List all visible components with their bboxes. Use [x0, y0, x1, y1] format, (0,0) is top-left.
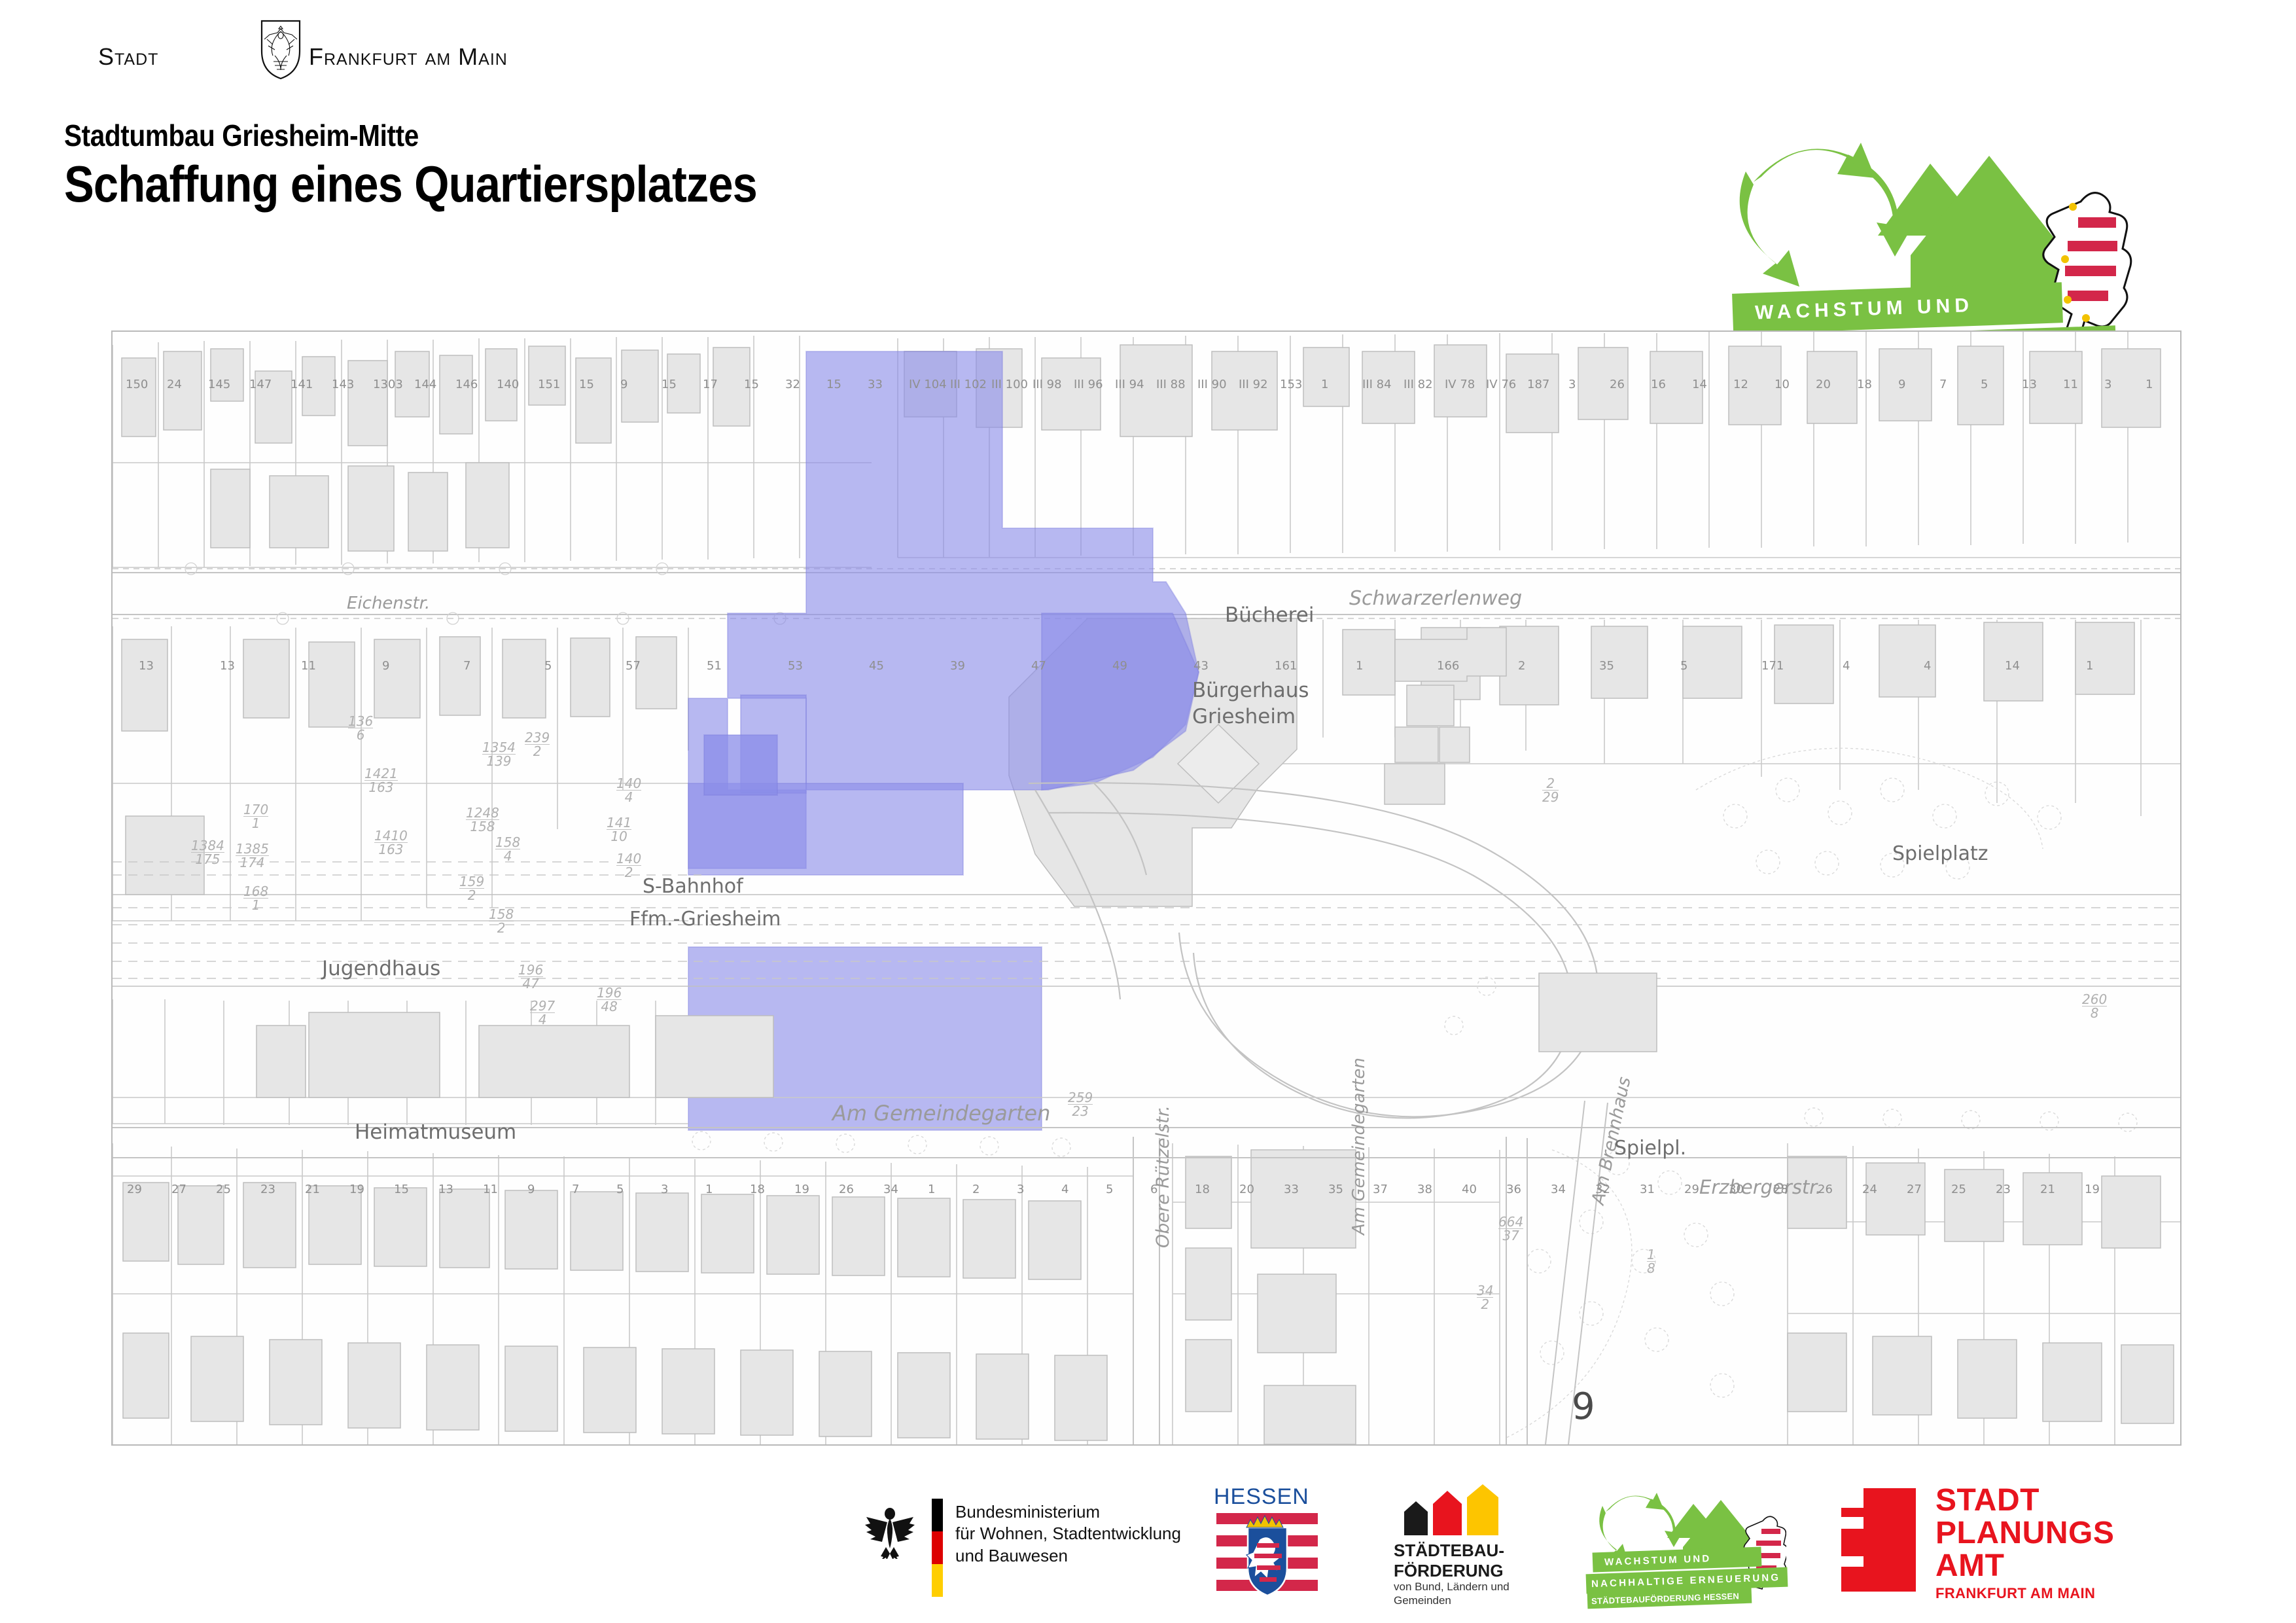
map-parcel-fraction: 1354139: [482, 741, 516, 768]
map-parcel-fraction: 1592: [459, 875, 484, 902]
map-house-number: 34: [883, 1183, 898, 1196]
map-house-number: 1: [1321, 378, 1328, 391]
map-street-label: Am Gemeindegarten: [1349, 1058, 1369, 1235]
map-house-number: 18: [750, 1183, 765, 1196]
map-house-number: 5: [544, 659, 552, 673]
map-house-number: III 92: [1239, 378, 1268, 391]
map-house-number: 187: [1527, 378, 1549, 391]
map-parcel-fraction: 1410163: [374, 829, 408, 857]
map-house-number: 166: [1437, 659, 1459, 673]
map-house-number: 7: [1939, 378, 1947, 391]
map-house-number: III 94: [1115, 378, 1144, 391]
map-house-number: 26: [1610, 378, 1625, 391]
map-house-number: 17: [703, 378, 718, 391]
map-parcel-fraction: 2392: [525, 731, 550, 758]
map-house-number: 15: [579, 378, 594, 391]
map-house-number: 150: [126, 378, 148, 391]
bmwsb-line-2: für Wohnen, Stadtentwicklung: [955, 1523, 1181, 1544]
three-houses-icon: [1402, 1484, 1500, 1535]
spa-line-1: STADT: [1935, 1484, 2114, 1517]
federal-eagle-icon: [864, 1503, 916, 1559]
city-logo-word-frankfurt: Frankfurt am Main: [309, 43, 508, 71]
map-place-label: Spielpl.: [1614, 1137, 1686, 1160]
map-house-number: 14: [2005, 659, 2020, 673]
map-house-number: 2: [972, 1183, 980, 1196]
map-house-number: 11: [301, 659, 316, 673]
map-house-number: 15: [394, 1183, 409, 1196]
map-house-number: 20: [1239, 1183, 1254, 1196]
map-house-number: IV 78: [1445, 378, 1475, 391]
map-house-number: 7: [572, 1183, 579, 1196]
map-house-number: 1: [705, 1183, 713, 1196]
map-house-number: 1: [2086, 659, 2093, 673]
map-house-number: IV 104: [909, 378, 947, 391]
map-house-number: 32: [1595, 1183, 1610, 1196]
map-parcel-fraction: 1385174: [236, 842, 269, 870]
map-parcel-fraction: 2974: [530, 999, 555, 1027]
staedtebau-title: STÄDTEBAU- FÖRDERUNG: [1394, 1541, 1504, 1580]
map-parcel-fraction: 1582: [489, 908, 514, 935]
map-house-number: 36: [1506, 1183, 1521, 1196]
map-house-number: 21: [2040, 1183, 2055, 1196]
map-house-number: 2: [1518, 659, 1525, 673]
map-house-number: 4: [1061, 1183, 1069, 1196]
map-house-number: 9: [620, 378, 627, 391]
map-house-number: 27: [1907, 1183, 1922, 1196]
map-house-number: 144: [414, 378, 436, 391]
map-parcel-fraction: 18: [1647, 1248, 1655, 1275]
map-parcel-fraction: 1366: [348, 715, 373, 742]
map-house-number: 10: [1775, 378, 1790, 391]
map-house-number: 47: [1031, 659, 1046, 673]
map-parcel-fraction: 342: [1477, 1284, 1493, 1311]
wachstum-logo-footer: WACHSTUM UND NACHHALTIGE ERNEUERUNG STÄD…: [1590, 1487, 1786, 1605]
map-house-number: 145: [208, 378, 230, 391]
map-house-number: 13: [438, 1183, 453, 1196]
map-house-number: 16: [1651, 378, 1666, 391]
map-house-number: 18: [1857, 378, 1872, 391]
map-house-number: 15: [826, 378, 841, 391]
map-parcel-fraction: 1402: [616, 852, 641, 880]
map-parcel-fraction: 25923: [1068, 1091, 1093, 1118]
map-house-number: 5: [1106, 1183, 1113, 1196]
map-house-number: 53: [788, 659, 803, 673]
map-house-number: 30: [1729, 1183, 1744, 1196]
staedtebau-line-1: STÄDTEBAU-: [1394, 1541, 1504, 1561]
map-house-number: 34: [1551, 1183, 1566, 1196]
map-house-number: 33: [1284, 1183, 1299, 1196]
map-house-number: 18: [1195, 1183, 1210, 1196]
map-house-number: 35: [1599, 659, 1614, 673]
map-house-number: 57: [626, 659, 641, 673]
staedtebau-sub: von Bund, Ländern und Gemeinden: [1394, 1580, 1510, 1608]
map-house-number: 49: [1112, 659, 1127, 673]
map-house-number: 1303: [373, 378, 403, 391]
map-house-number: III 90: [1197, 378, 1227, 391]
map-house-number: 23: [1996, 1183, 2011, 1196]
map-place-label: Spielplatz: [1892, 842, 1988, 865]
map-street-label: Am Gemeindegarten: [832, 1101, 1050, 1126]
map-street-label: Eichenstr.: [347, 594, 430, 613]
map-parcel-fraction: 1701: [243, 803, 268, 830]
map-house-number: 11: [483, 1183, 498, 1196]
map-parcel-fraction: 19647: [518, 963, 543, 991]
map-house-number: 13: [139, 659, 154, 673]
map-house-number: 5: [1981, 378, 1988, 391]
map-house-number: 38: [1417, 1183, 1432, 1196]
map-house-number: 24: [167, 378, 182, 391]
map-place-label: Griesheim: [1192, 705, 1296, 728]
map-house-number: 26: [1818, 1183, 1833, 1196]
map-house-number: 143: [332, 378, 354, 391]
frankfurt-eagle-crest-icon: [260, 20, 301, 80]
map-parcel-fraction: 1248158: [466, 806, 499, 834]
map-house-number: 15: [744, 378, 759, 391]
bmwsb-line-3: und Bauwesen: [955, 1545, 1181, 1567]
map-house-number: 5: [1680, 659, 1687, 673]
map-house-number: III 88: [1156, 378, 1186, 391]
map-house-number: 43: [1193, 659, 1209, 673]
map-house-number: 171: [1761, 659, 1784, 673]
map-house-number: 14: [1692, 378, 1707, 391]
hessen-logo: HESSEN: [1214, 1484, 1345, 1599]
map-house-number: 147: [249, 378, 272, 391]
map-house-number: 12: [1733, 378, 1748, 391]
hessen-label: HESSEN: [1214, 1484, 1345, 1510]
map-house-number: 24: [1862, 1183, 1877, 1196]
map-house-number: 37: [1373, 1183, 1388, 1196]
map-street-label: Erzbergerstr.: [1699, 1176, 1822, 1198]
map-house-number: 3: [2104, 378, 2111, 391]
map-house-number: 13: [2022, 378, 2037, 391]
page-subtitle: Stadtumbau Griesheim-Mitte: [64, 118, 419, 153]
map-house-number: 39: [950, 659, 965, 673]
map-parcel-fraction: 1384175: [191, 839, 224, 866]
map-house-number: 151: [538, 378, 560, 391]
map-house-number: 161: [1275, 659, 1297, 673]
map-house-number: 6: [1150, 1183, 1157, 1196]
footer-logos: Bundesministerium für Wohnen, Stadtentwi…: [0, 1472, 2296, 1623]
staedtebaufoerderung-logo: STÄDTEBAU- FÖRDERUNG von Bund, Ländern u…: [1387, 1484, 1583, 1605]
bmwsb-line-1: Bundesministerium: [955, 1501, 1181, 1523]
cadastral-map[interactable]: 9 Eichenstr.SchwarzerlenwegErzbergerstr.…: [111, 330, 2181, 1446]
map-house-number: 25: [1951, 1183, 1966, 1196]
map-parcel-fraction: 19648: [597, 986, 622, 1014]
map-house-number: IV 76: [1486, 378, 1516, 391]
map-graphic: [113, 332, 2180, 1444]
map-house-number: 1: [928, 1183, 935, 1196]
map-house-number: 9: [527, 1183, 535, 1196]
spa-subtitle: FRANKFURT AM MAIN: [1935, 1585, 2095, 1602]
map-house-number: 29: [127, 1183, 142, 1196]
map-house-number: 9: [382, 659, 389, 673]
map-house-number: 20: [1816, 378, 1831, 391]
map-parcel-fraction: 1681: [243, 885, 268, 912]
stadtplanungsamt-logo: STADT PLANUNGS AMT FRANKFURT AM MAIN: [1832, 1486, 2172, 1603]
map-house-number: 45: [869, 659, 884, 673]
city-logo-word-stadt: Stadt: [98, 43, 158, 71]
spa-line-3: AMT: [1935, 1550, 2114, 1582]
map-house-number: 23: [260, 1183, 275, 1196]
map-house-number: 146: [455, 378, 478, 391]
map-house-number: 21: [305, 1183, 320, 1196]
stadtplanungsamt-name: STADT PLANUNGS AMT: [1935, 1484, 2114, 1582]
hessen-coat-of-arms-icon: [1216, 1513, 1318, 1598]
map-house-number: 11: [2063, 378, 2078, 391]
map-parcel-fraction: 66437: [1498, 1215, 1523, 1243]
map-house-number: 28: [1773, 1183, 1788, 1196]
map-house-number: III 102: [950, 378, 987, 391]
map-house-number: 19: [2085, 1183, 2100, 1196]
map-house-number: 141: [291, 378, 313, 391]
map-house-number: 15: [662, 378, 677, 391]
map-house-number: 4: [1843, 659, 1850, 673]
map-house-number: 25: [216, 1183, 231, 1196]
map-place-label: Ffm.-Griesheim: [629, 908, 781, 931]
city-logo: Stadt Frankfurt am Main: [98, 34, 517, 79]
map-parcel-fraction: 1404: [616, 777, 641, 804]
map-house-number: 13: [220, 659, 235, 673]
map-house-number: 7: [463, 659, 470, 673]
map-sheet-number: 9: [1572, 1385, 1595, 1428]
map-house-number: 153: [1280, 378, 1302, 391]
map-place-label: Jugendhaus: [322, 957, 440, 980]
map-house-number: 3: [661, 1183, 668, 1196]
bmwsb-text: Bundesministerium für Wohnen, Stadtentwi…: [955, 1501, 1181, 1567]
map-house-number: 33: [868, 378, 883, 391]
staedtebau-sub-2: Gemeinden: [1394, 1594, 1510, 1607]
map-house-number: 19: [349, 1183, 364, 1196]
spa-line-2: PLANUNGS: [1935, 1517, 2114, 1550]
map-house-number: 1: [1356, 659, 1363, 673]
frankfurt-f-mark-icon: [1832, 1488, 1916, 1592]
bmwsb-logo: Bundesministerium für Wohnen, Stadtentwi…: [864, 1486, 1230, 1597]
map-street-label: Obere Rützelstr.: [1153, 1105, 1173, 1248]
map-house-number: 40: [1462, 1183, 1477, 1196]
staedtebau-sub-1: von Bund, Ländern und: [1394, 1580, 1510, 1594]
map-house-number: III 100: [991, 378, 1028, 391]
map-house-number: 51: [707, 659, 722, 673]
map-house-number: III 84: [1362, 378, 1392, 391]
map-house-number: III 96: [1074, 378, 1103, 391]
map-house-number: 27: [171, 1183, 186, 1196]
map-parcel-fraction: 1421163: [364, 767, 398, 794]
staedtebau-line-2: FÖRDERUNG: [1394, 1561, 1504, 1581]
map-place-label: Bücherei: [1225, 603, 1314, 627]
map-place-label: S-Bahnhof: [643, 875, 743, 898]
recycle-arrow-icon: [1740, 143, 1915, 287]
german-flag-bar: [932, 1499, 943, 1597]
map-house-number: 3: [1568, 378, 1576, 391]
map-parcel-fraction: 229: [1542, 777, 1559, 804]
map-house-number: 19: [794, 1183, 809, 1196]
map-house-number: 3: [1017, 1183, 1024, 1196]
map-house-number: III 98: [1033, 378, 1062, 391]
map-house-number: 5: [616, 1183, 624, 1196]
map-parcel-fraction: 14110: [607, 816, 631, 844]
map-place-label: Heimatmuseum: [355, 1120, 516, 1144]
map-house-number: 31: [1640, 1183, 1655, 1196]
map-house-number: 1: [2146, 378, 2153, 391]
map-parcel-fraction: 2608: [2082, 993, 2107, 1020]
map-house-number: 35: [1328, 1183, 1343, 1196]
map-place-label: Bürgerhaus: [1192, 679, 1309, 702]
map-street-label: Schwarzerlenweg: [1349, 587, 1522, 610]
map-house-number: 140: [497, 378, 519, 391]
map-house-number: 29: [1684, 1183, 1699, 1196]
map-house-number: 26: [839, 1183, 854, 1196]
map-house-number: 32: [785, 378, 800, 391]
map-house-number: 9: [1898, 378, 1905, 391]
page-title: Schaffung eines Quartiersplatzes: [64, 154, 757, 214]
map-parcel-fraction: 1584: [495, 836, 520, 863]
house-roof-icon: [1878, 156, 2068, 296]
map-house-number: 4: [1924, 659, 1931, 673]
map-house-number: III 82: [1404, 378, 1433, 391]
